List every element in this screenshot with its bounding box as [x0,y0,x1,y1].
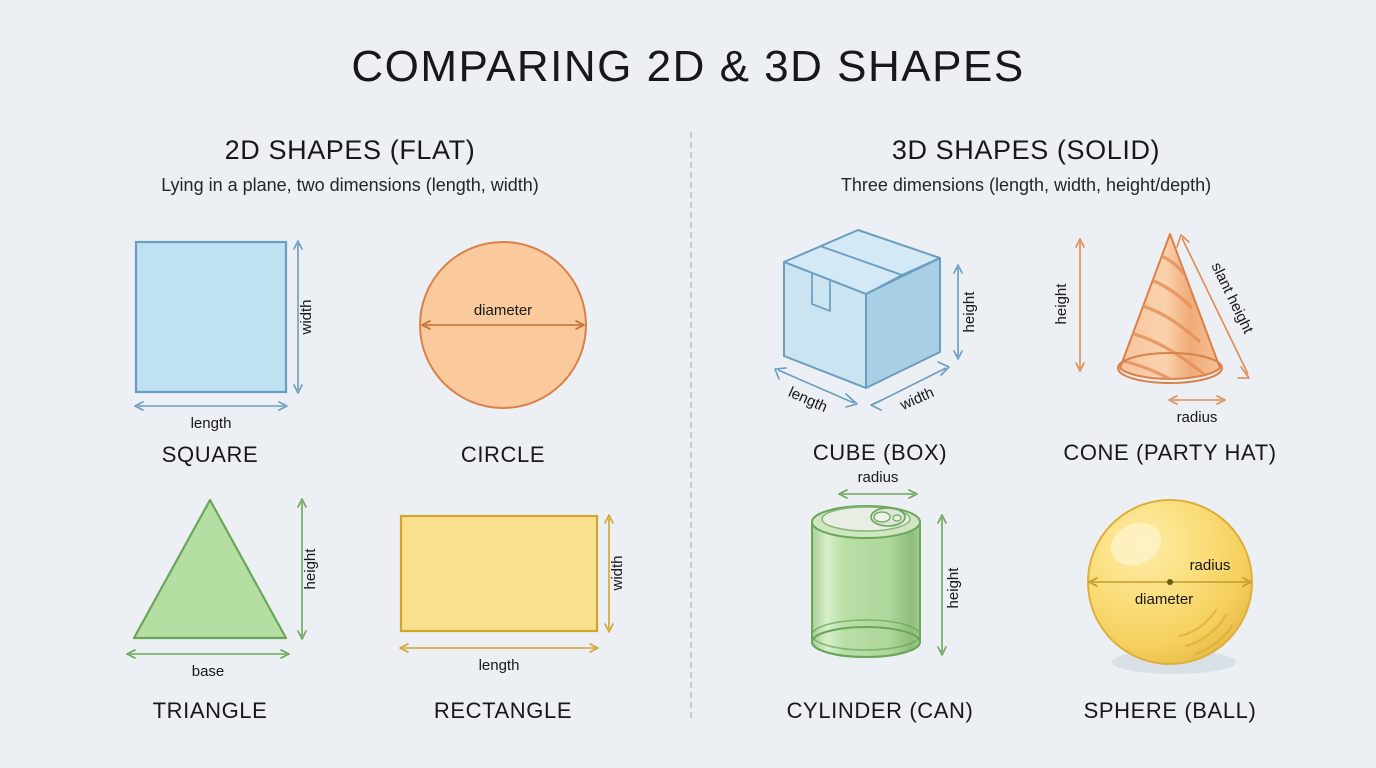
cylinder-radius-label: radius [858,469,899,486]
cylinder-figure: radius height [762,470,998,690]
shape-name-cube: CUBE (BOX) [762,440,998,466]
triangle-figure: height base [90,486,330,691]
panel-subtitle-2d: Lying in a plane, two dimensions (length… [40,175,660,196]
cube-length-label: length [786,384,830,416]
sphere-radius-label: radius [1190,557,1231,574]
shape-cell-rectangle: width length RECTANGLE [383,486,623,736]
shape-cell-cone: height slant height radius CONE (PARTY H… [1052,228,1288,478]
rectangle-width-label: width [609,555,626,591]
shape-name-cone: CONE (PARTY HAT) [1052,440,1288,466]
shape-cell-square: width length SQUARE [90,230,330,480]
cone-radius-label: radius [1177,409,1218,426]
cylinder-height-label: height [945,567,962,609]
cone-height-label: height [1053,283,1070,325]
sphere-diameter-label: diameter [1135,591,1193,608]
shape-cell-cylinder: radius height CYLINDER (CAN) [762,470,998,736]
shape-cell-sphere: radius diameter SPHERE (BALL) [1052,486,1288,736]
square-width-label: width [298,299,315,335]
cone-figure: height slant height radius [1052,228,1288,433]
page-title: COMPARING 2D & 3D SHAPES [0,42,1376,92]
shape-name-square: SQUARE [90,442,330,468]
shape-name-rectangle: RECTANGLE [383,698,623,724]
panel-title-2d: 2D SHAPES (FLAT) [40,135,660,166]
square-figure: width length [90,230,330,435]
rectangle-figure: width length [383,486,623,691]
circle-diameter-label: diameter [474,302,532,319]
shape-cell-triangle: height base TRIANGLE [90,486,330,736]
panel-title-3d: 3D SHAPES (SOLID) [716,135,1336,166]
rectangle-length-label: length [479,657,520,674]
shape-cell-circle: diameter CIRCLE [383,230,623,480]
square-length-label: length [191,415,232,432]
section-divider [690,132,692,718]
circle-figure: diameter [383,230,623,435]
cube-width-label: width [897,384,937,414]
cube-height-label: height [961,291,978,333]
sphere-figure: radius diameter [1052,486,1288,691]
shape-name-cylinder: CYLINDER (CAN) [762,698,998,724]
shape-cell-cube: height length width CUBE (BOX) [762,228,998,478]
cone-slant-height-label: slant height [1208,260,1257,337]
cube-figure: height length width [762,228,998,433]
panel-subtitle-3d: Three dimensions (length, width, height/… [716,175,1336,196]
panel-header-2d: 2D SHAPES (FLAT) Lying in a plane, two d… [40,135,660,196]
shape-name-circle: CIRCLE [383,442,623,468]
shape-name-triangle: TRIANGLE [90,698,330,724]
panel-header-3d: 3D SHAPES (SOLID) Three dimensions (leng… [716,135,1336,196]
triangle-base-label: base [192,663,225,680]
shape-name-sphere: SPHERE (BALL) [1052,698,1288,724]
triangle-height-label: height [302,548,319,590]
